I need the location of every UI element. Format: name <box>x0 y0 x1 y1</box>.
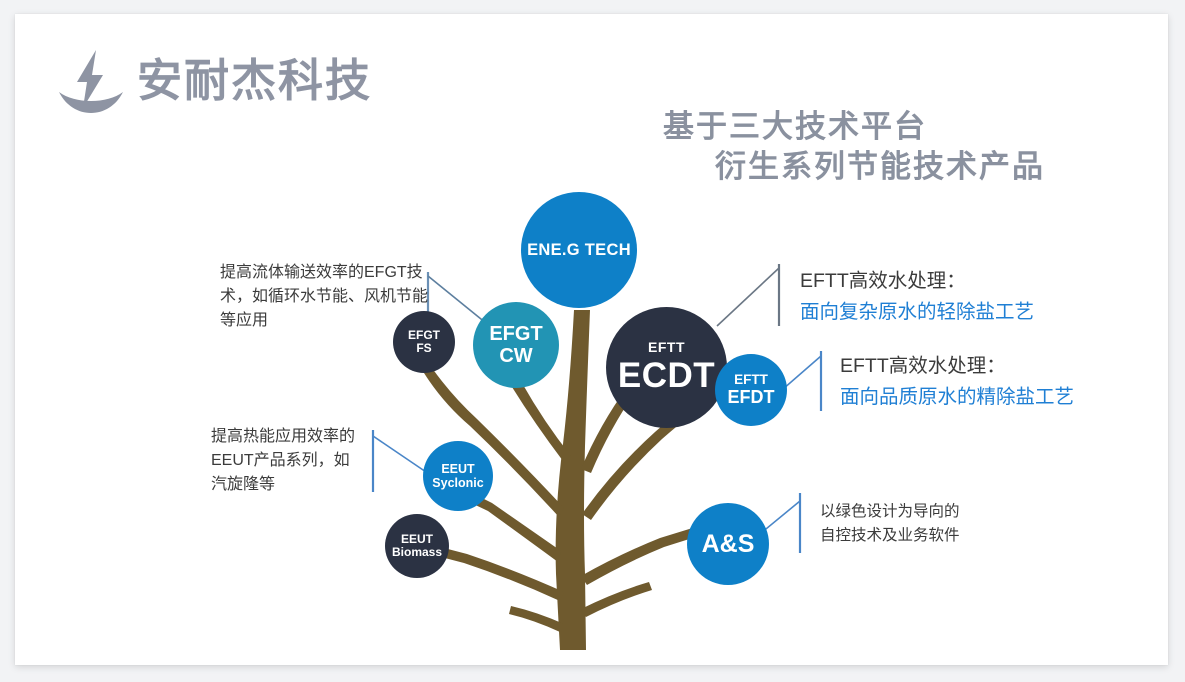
tree-node-eneg[interactable]: ENE.G TECH <box>521 192 637 308</box>
technology-tree-graphic <box>15 14 1168 665</box>
callout-eftt-fine-desalination: EFTT高效水处理： 面向品质原水的精除盐工艺 <box>840 351 1074 413</box>
callout-efgt: 提高流体输送效率的EFGT技术，如循环水节能、风机节能等应用 <box>220 261 435 333</box>
tree-node-eeut-syclonic-sub: EEUT <box>441 462 474 476</box>
callout-eeut: 提高热能应用效率的EEUT产品系列，如汽旋隆等 <box>211 425 361 497</box>
tree-node-as[interactable]: A&S <box>687 503 769 585</box>
callout-as-line2: 自控技术及业务软件 <box>820 524 960 548</box>
tree-node-ecdt-label: ECDT <box>618 356 715 395</box>
callout-eftt-fine-title: EFTT高效水处理： <box>840 351 1074 382</box>
tree-node-efgt-cw-sub: EFGT <box>489 323 542 345</box>
tree-node-efdt-sub: EFTT <box>734 372 768 387</box>
tree-node-efdt-label: EFDT <box>728 387 775 407</box>
callout-eftt-light-detail: 面向复杂原水的轻除盐工艺 <box>800 297 1034 328</box>
callout-eftt-fine-detail: 面向品质原水的精除盐工艺 <box>840 382 1074 413</box>
tree-node-eeut-biomass-label: Biomass <box>392 546 442 559</box>
callout-eftt-light-desalination: EFTT高效水处理： 面向复杂原水的轻除盐工艺 <box>800 266 1034 328</box>
tree-node-ecdt-sub: EFTT <box>648 340 685 356</box>
slide-canvas: 安耐杰科技 基于三大技术平台 衍生系列节能技术产品 <box>15 14 1168 665</box>
tree-node-eeut-syclonic-label: Syclonic <box>432 476 483 490</box>
tree-node-eeut-biomass-sub: EEUT <box>401 533 433 546</box>
tree-node-efdt[interactable]: EFTT EFDT <box>715 354 787 426</box>
callout-eftt-light-title: EFTT高效水处理： <box>800 266 1034 297</box>
tree-node-eneg-label: ENE.G TECH <box>527 241 631 259</box>
tree-node-eeut-biomass[interactable]: EEUT Biomass <box>385 514 449 578</box>
tree-node-as-label: A&S <box>702 530 755 558</box>
tree-node-efgt-cw[interactable]: EFGT CW <box>473 302 559 388</box>
tree-node-efgt-fs-label: FS <box>416 342 431 355</box>
tree-node-eeut-syclonic[interactable]: EEUT Syclonic <box>423 441 493 511</box>
callout-as: 以绿色设计为导向的 自控技术及业务软件 <box>820 500 960 548</box>
callout-efgt-text: 提高流体输送效率的EFGT技术，如循环水节能、风机节能等应用 <box>220 261 435 333</box>
tree-node-ecdt[interactable]: EFTT ECDT <box>606 307 727 428</box>
callout-eeut-text: 提高热能应用效率的EEUT产品系列，如汽旋隆等 <box>211 425 361 497</box>
tree-node-efgt-cw-label: CW <box>499 345 532 367</box>
callout-as-line1: 以绿色设计为导向的 <box>820 500 960 524</box>
